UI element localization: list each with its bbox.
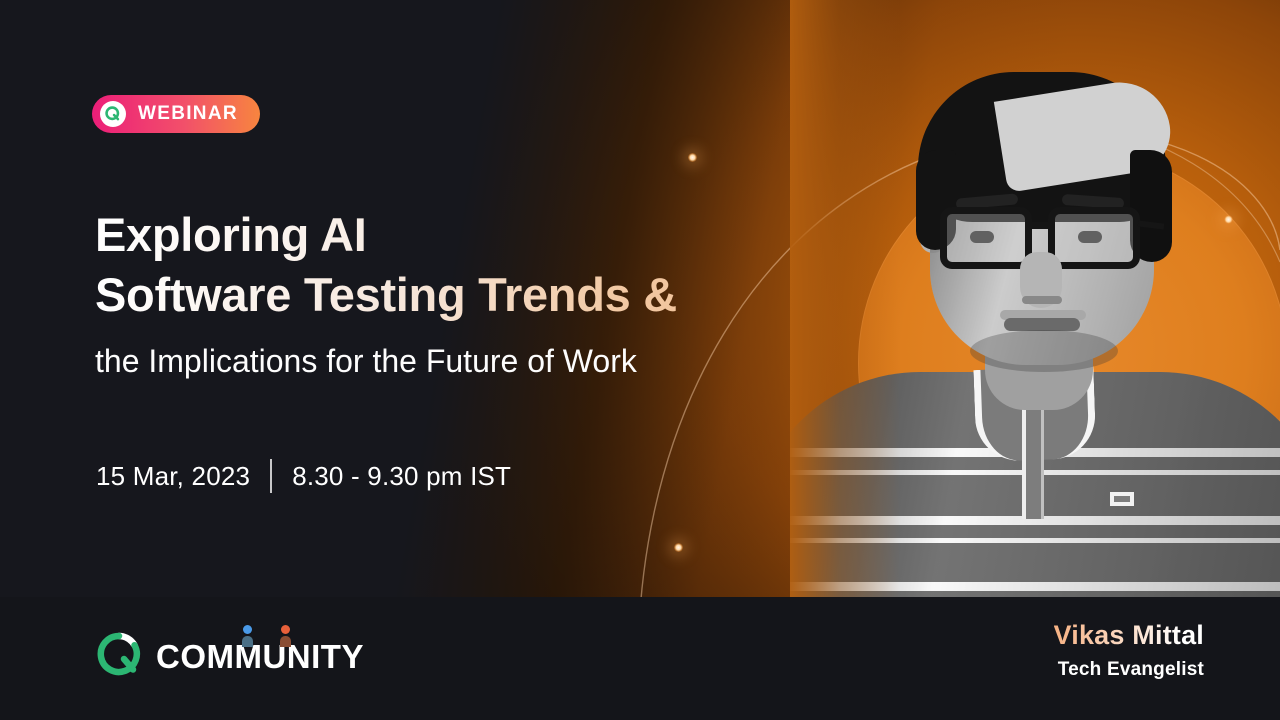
webinar-badge: WEBINAR bbox=[92, 95, 260, 133]
speaker-role: Tech Evangelist bbox=[1054, 659, 1204, 681]
event-date: 15 Mar, 2023 bbox=[96, 461, 250, 492]
headline-line-2: Software Testing Trends & bbox=[95, 265, 815, 325]
community-wordmark: COMMUNITY bbox=[156, 638, 364, 676]
chin-shadow bbox=[970, 330, 1118, 372]
person-icon bbox=[242, 625, 253, 645]
q-logo-icon bbox=[96, 631, 142, 682]
q-logo-icon bbox=[100, 101, 126, 127]
speaker-name: Vikas Mittal bbox=[1054, 620, 1204, 651]
schedule-block: 15 Mar, 2023 8.30 - 9.30 pm IST bbox=[96, 459, 511, 493]
shirt-placket bbox=[1022, 404, 1044, 519]
shirt-logo bbox=[1110, 492, 1134, 506]
headline-line-1: Exploring AI bbox=[95, 205, 815, 265]
person-icon bbox=[280, 625, 291, 645]
eyeglasses-lens-right bbox=[1048, 207, 1140, 269]
webinar-badge-label: WEBINAR bbox=[138, 103, 238, 125]
event-time: 8.30 - 9.30 pm IST bbox=[292, 461, 511, 492]
headline-block: Exploring AI Software Testing Trends & t… bbox=[95, 205, 815, 381]
speaker-credit: Vikas Mittal Tech Evangelist bbox=[1054, 620, 1204, 681]
speaker-photo bbox=[790, 0, 1280, 597]
nostrils bbox=[1022, 296, 1062, 304]
glow-dot-icon bbox=[688, 153, 697, 162]
eyeglasses-lens-left bbox=[940, 207, 1032, 269]
glow-dot-icon bbox=[674, 543, 683, 552]
webinar-banner: WEBINAR Exploring AI Software Testing Tr… bbox=[0, 0, 1280, 720]
headline-line-3: the Implications for the Future of Work bbox=[95, 341, 815, 381]
community-logo: COMMUNITY bbox=[96, 631, 364, 682]
schedule-divider bbox=[270, 459, 272, 493]
eyeglasses-bridge bbox=[1031, 222, 1051, 229]
